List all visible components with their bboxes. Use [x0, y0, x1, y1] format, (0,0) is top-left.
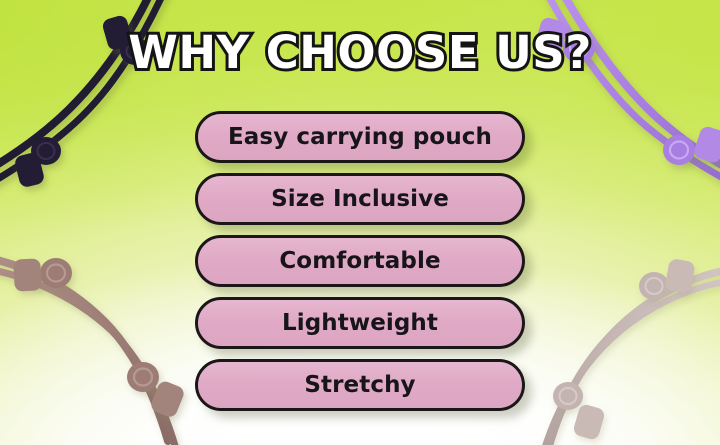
poster-canvas: WHY CHOOSE US? Easy carrying pouch Size … — [0, 0, 720, 445]
feature-pill-lightweight: Lightweight — [195, 297, 525, 349]
title-container: WHY CHOOSE US? — [0, 26, 720, 79]
page-title: WHY CHOOSE US? — [128, 26, 592, 79]
feature-label: Lightweight — [282, 310, 438, 336]
feature-list: Easy carrying pouch Size Inclusive Comfo… — [0, 111, 720, 411]
feature-pill-comfortable: Comfortable — [195, 235, 525, 287]
feature-label: Easy carrying pouch — [228, 124, 492, 150]
feature-label: Size Inclusive — [271, 186, 449, 212]
feature-pill-easy-carrying-pouch: Easy carrying pouch — [195, 111, 525, 163]
feature-pill-size-inclusive: Size Inclusive — [195, 173, 525, 225]
feature-label: Stretchy — [304, 372, 415, 398]
feature-label: Comfortable — [279, 248, 440, 274]
feature-pill-stretchy: Stretchy — [195, 359, 525, 411]
